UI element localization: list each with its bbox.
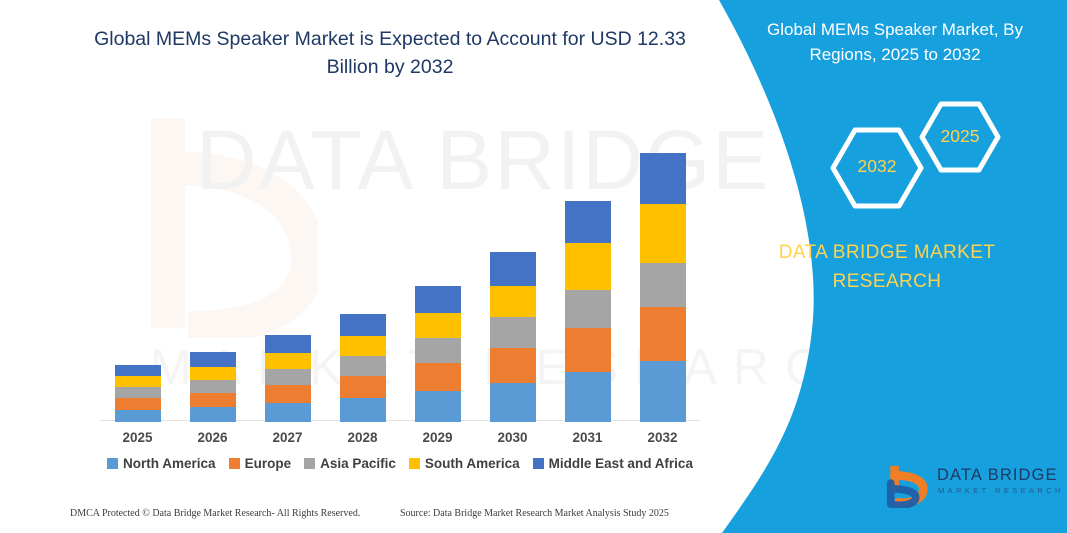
data-bridge-logo: DATA BRIDGE MARKET RESEARCH [885, 460, 1055, 512]
bar-segment-2026-europe [190, 393, 236, 407]
legend-item-north-america[interactable]: North America [107, 456, 216, 471]
legend-item-south-america[interactable]: South America [409, 456, 520, 471]
legend-swatch-icon [409, 458, 420, 469]
bar-2026 [190, 352, 236, 422]
bar-segment-2026-north-america [190, 407, 236, 422]
bar-segment-2025-europe [115, 398, 161, 410]
legend-label: Middle East and Africa [549, 456, 693, 471]
bar-segment-2026-south-america [190, 367, 236, 380]
bar-2032 [640, 153, 686, 422]
bar-segment-2028-europe [340, 376, 386, 398]
x-label-2028: 2028 [333, 430, 393, 445]
brand-panel: Global MEMs Speaker Market, By Regions, … [707, 0, 1067, 533]
logo-name: DATA BRIDGE [937, 466, 1058, 485]
bar-segment-2030-asia-pacific [490, 317, 536, 348]
bar-segment-2028-middle-east-and-africa [340, 314, 386, 336]
bar-segment-2029-north-america [415, 391, 461, 422]
footer-copyright: DMCA Protected © Data Bridge Market Rese… [70, 508, 360, 519]
bar-segment-2030-north-america [490, 383, 536, 422]
infographic-canvas: DATA BRIDGE MARKET RESEARCH Global MEMs … [0, 0, 1067, 533]
x-label-2026: 2026 [183, 430, 243, 445]
legend-label: North America [123, 456, 216, 471]
x-label-2031: 2031 [558, 430, 618, 445]
x-label-2025: 2025 [108, 430, 168, 445]
bar-segment-2030-middle-east-and-africa [490, 252, 536, 286]
bar-segment-2031-north-america [565, 372, 611, 422]
logo-tagline: MARKET RESEARCH [938, 486, 1064, 495]
legend-label: South America [425, 456, 520, 471]
chart-title: Global MEMs Speaker Market is Expected t… [70, 26, 710, 81]
bar-segment-2025-middle-east-and-africa [115, 365, 161, 376]
footer-source: Source: Data Bridge Market Research Mark… [400, 508, 669, 519]
bar-2027 [265, 335, 311, 422]
bar-segment-2031-asia-pacific [565, 290, 611, 328]
legend-swatch-icon [304, 458, 315, 469]
bar-segment-2027-middle-east-and-africa [265, 335, 311, 353]
panel-title: Global MEMs Speaker Market, By Regions, … [745, 18, 1045, 67]
x-label-2027: 2027 [258, 430, 318, 445]
bar-segment-2031-europe [565, 328, 611, 372]
bar-segment-2031-middle-east-and-africa [565, 201, 611, 243]
bar-2028 [340, 314, 386, 422]
bar-segment-2025-south-america [115, 376, 161, 387]
x-label-2029: 2029 [408, 430, 468, 445]
bar-segment-2028-north-america [340, 398, 386, 422]
legend-swatch-icon [107, 458, 118, 469]
bar-segment-2029-europe [415, 363, 461, 391]
legend-swatch-icon [229, 458, 240, 469]
bar-2029 [415, 286, 461, 422]
bar-2025 [115, 365, 161, 422]
bar-segment-2027-north-america [265, 403, 311, 422]
legend-label: Europe [245, 456, 292, 471]
stacked-bar-plot [100, 110, 700, 422]
brand-line-1: DATA BRIDGE MARKET [737, 238, 1037, 267]
bar-segment-2028-south-america [340, 336, 386, 356]
bar-segment-2029-south-america [415, 313, 461, 338]
bar-segment-2032-middle-east-and-africa [640, 153, 686, 204]
brand-name: DATA BRIDGE MARKET RESEARCH [737, 238, 1037, 297]
bar-segment-2032-north-america [640, 361, 686, 422]
x-label-2030: 2030 [483, 430, 543, 445]
bar-segment-2028-asia-pacific [340, 356, 386, 376]
x-axis-labels: 20252026202720282029203020312032 [100, 430, 700, 450]
bar-segment-2032-south-america [640, 204, 686, 263]
legend-item-asia-pacific[interactable]: Asia Pacific [304, 456, 396, 471]
bar-segment-2025-north-america [115, 410, 161, 422]
bar-segment-2026-asia-pacific [190, 380, 236, 393]
bar-segment-2029-asia-pacific [415, 338, 461, 363]
bar-segment-2032-asia-pacific [640, 263, 686, 307]
bar-segment-2027-south-america [265, 353, 311, 369]
bar-segment-2027-europe [265, 385, 311, 403]
hexagon-label-2032: 2032 [842, 156, 912, 177]
bar-segment-2030-europe [490, 348, 536, 383]
bar-segment-2031-south-america [565, 243, 611, 290]
hexagon-group: 2025 2032 [807, 92, 1027, 217]
chart-legend: North AmericaEuropeAsia PacificSouth Ame… [100, 456, 700, 471]
bar-2030 [490, 252, 536, 422]
hexagon-label-2025: 2025 [925, 126, 995, 147]
legend-item-europe[interactable]: Europe [229, 456, 292, 471]
x-label-2032: 2032 [633, 430, 693, 445]
logo-mark-icon [885, 462, 931, 508]
bar-segment-2029-middle-east-and-africa [415, 286, 461, 313]
footer: DMCA Protected © Data Bridge Market Rese… [0, 508, 712, 528]
legend-item-middle-east-and-africa[interactable]: Middle East and Africa [533, 456, 693, 471]
legend-swatch-icon [533, 458, 544, 469]
legend-label: Asia Pacific [320, 456, 396, 471]
bar-segment-2030-south-america [490, 286, 536, 317]
bar-segment-2026-middle-east-and-africa [190, 352, 236, 367]
brand-line-2: RESEARCH [737, 267, 1037, 296]
bar-2031 [565, 201, 611, 422]
bar-segment-2027-asia-pacific [265, 369, 311, 385]
bar-segment-2025-asia-pacific [115, 387, 161, 398]
bar-segment-2032-europe [640, 307, 686, 361]
